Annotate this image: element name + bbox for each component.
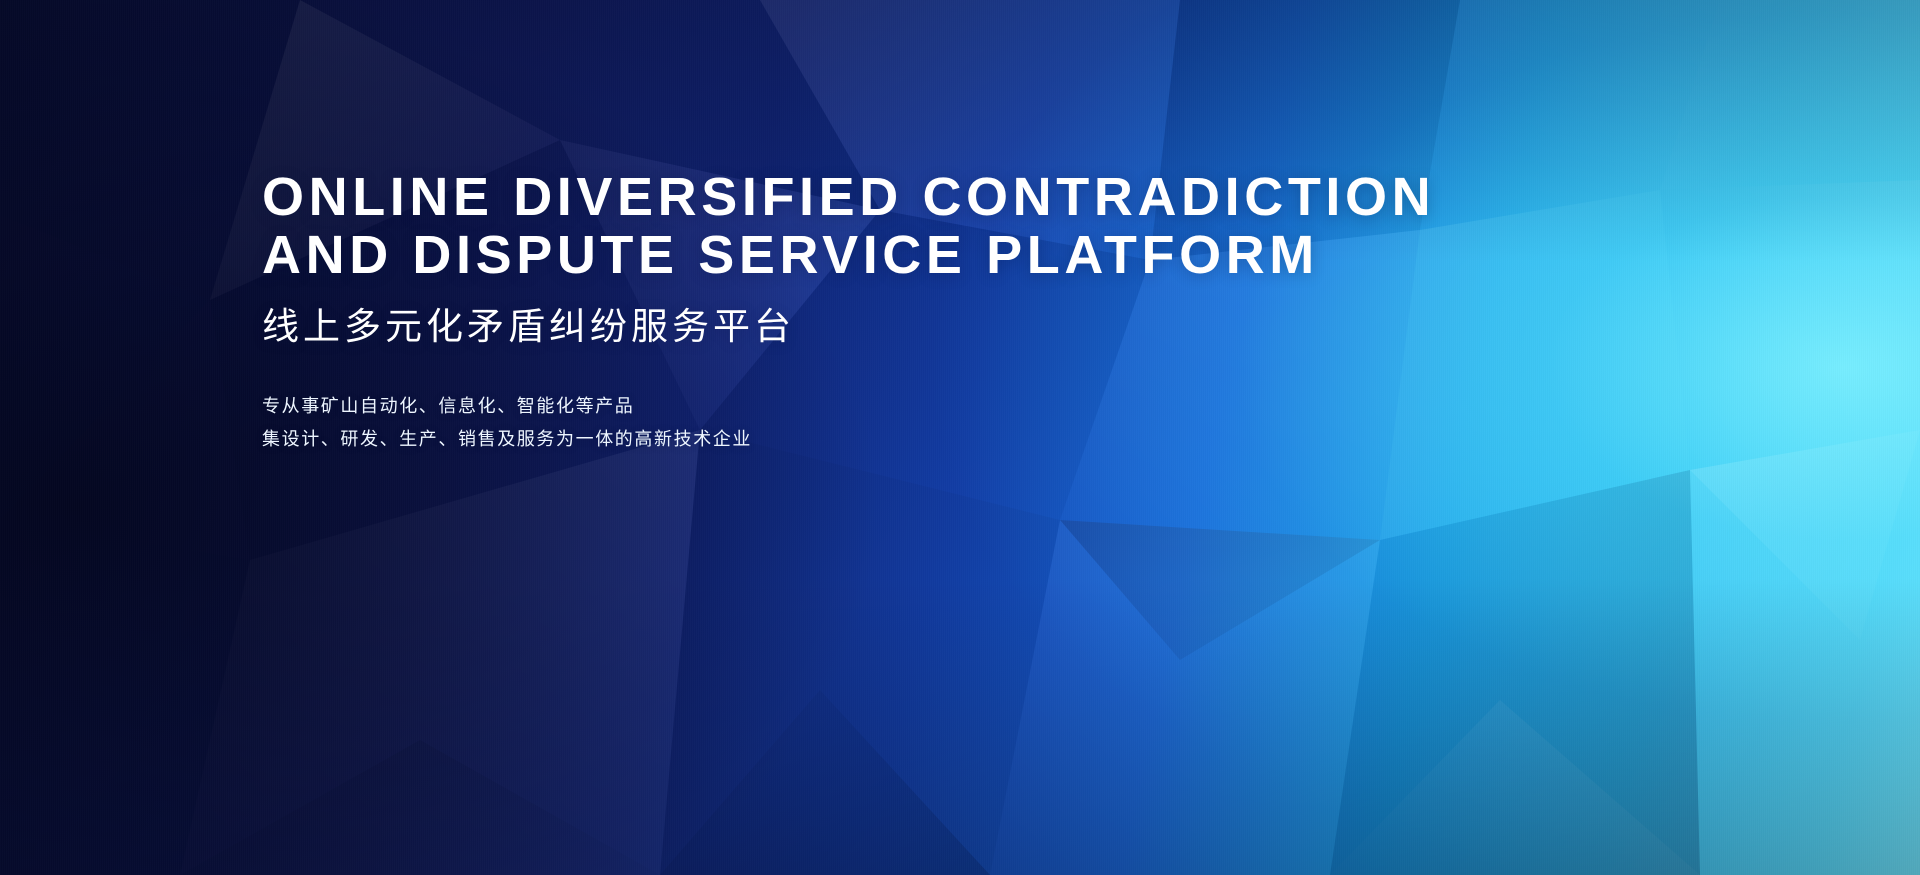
banner-headline: ONLINE DIVERSIFIED CONTRADICTION AND DIS… bbox=[262, 168, 1662, 284]
banner-copy-block: ONLINE DIVERSIFIED CONTRADICTION AND DIS… bbox=[262, 168, 1662, 456]
hero-banner: ONLINE DIVERSIFIED CONTRADICTION AND DIS… bbox=[0, 0, 1920, 875]
description-line-1: 专从事矿山自动化、信息化、智能化等产品 bbox=[262, 390, 1662, 423]
headline-line-1: ONLINE DIVERSIFIED CONTRADICTION bbox=[262, 168, 1662, 226]
banner-description: 专从事矿山自动化、信息化、智能化等产品 集设计、研发、生产、销售及服务为一体的高… bbox=[262, 390, 1662, 456]
headline-line-2: AND DISPUTE SERVICE PLATFORM bbox=[262, 226, 1662, 284]
banner-subtitle: 线上多元化矛盾纠纷服务平台 bbox=[262, 304, 1662, 350]
description-line-2: 集设计、研发、生产、销售及服务为一体的高新技术企业 bbox=[262, 423, 1662, 456]
